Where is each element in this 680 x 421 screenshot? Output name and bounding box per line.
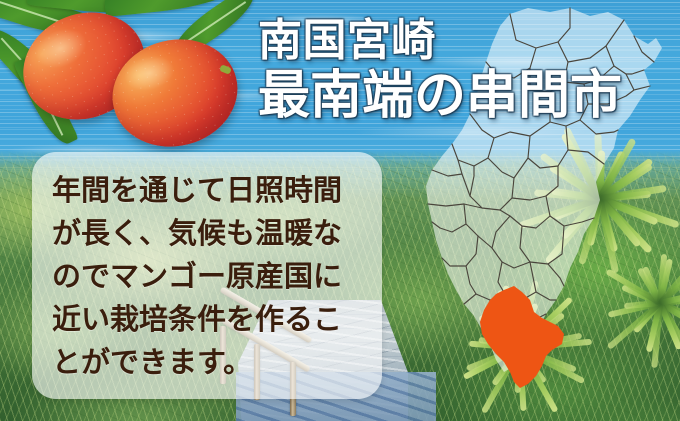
description-text: 年間を通じて日照時間 が長く、気候も温暖な のでマンゴー原産国に 近い栽培条件を… <box>52 170 372 385</box>
mango-fruit-illustration <box>0 0 244 172</box>
description-line: 近い栽培条件を作るこ <box>52 299 372 342</box>
description-line: とができます。 <box>52 342 372 385</box>
description-line: 年間を通じて日照時間 <box>52 170 372 213</box>
description-line: のでマンゴー原産国に <box>52 256 372 299</box>
description-line: が長く、気候も温暖な <box>52 213 372 256</box>
banner-title-line1: 南国宮崎 <box>258 18 622 65</box>
banner-title-line2: 最南端の串間市 <box>258 69 622 124</box>
promo-banner: 南国宮崎 最南端の串間市 年間を通じて日照時間 が長く、気候も温暖な のでマンゴ… <box>0 0 680 421</box>
banner-title: 南国宮崎 最南端の串間市 <box>258 18 622 124</box>
